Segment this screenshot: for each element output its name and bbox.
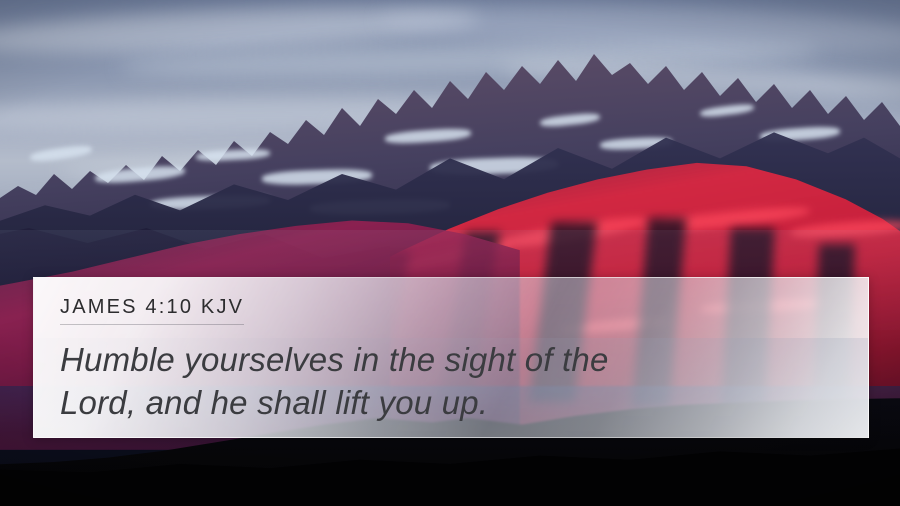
verse-overlay-card: JAMES 4:10 KJV Humble yourselves in the …	[33, 277, 869, 438]
verse-text: Humble yourselves in the sight of the Lo…	[60, 338, 842, 424]
wallpaper-canvas: JAMES 4:10 KJV Humble yourselves in the …	[0, 0, 900, 506]
verse-reference: JAMES 4:10 KJV	[60, 296, 244, 325]
